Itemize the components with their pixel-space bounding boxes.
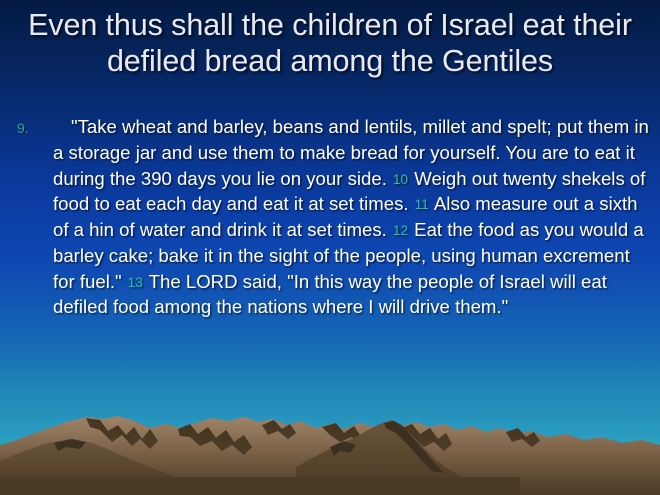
mountain-cap-dark-spot [330,441,356,456]
verse-number: 13 [127,275,144,290]
bullet-paragraph-block: 9. "Take wheat and barley, beans and len… [12,114,652,320]
scripture-passage-text: "Take wheat and barley, beans and lentil… [53,114,652,320]
mountain-foreground-right-peak [296,420,512,495]
mountain-foreground-left-slope [0,439,236,495]
mountain-shadow-facet-6 [506,428,540,447]
mountain-ridge-main [0,416,660,495]
mountain-foreground-right-shadow [384,421,444,473]
mountain-shadow-facets [86,418,158,449]
mountain-base-fill [0,477,520,495]
mountain-range-graphic [0,415,660,495]
mountain-left-shadow [54,439,86,451]
mountain-shadow-facet-5 [400,424,452,451]
slide-canvas: Even thus shall the children of Israel e… [0,0,660,495]
slide-title: Even thus shall the children of Israel e… [10,8,650,79]
mountain-shadow-facet-4 [322,423,392,450]
bullet-number-marker: 9. [12,114,53,135]
verse-number: 12 [392,223,409,238]
verse-number: 10 [392,172,409,187]
verse-number: 11 [414,197,430,212]
mountain-shadow-facet-2 [178,424,252,455]
mountain-shadow-facet-3 [262,420,296,439]
